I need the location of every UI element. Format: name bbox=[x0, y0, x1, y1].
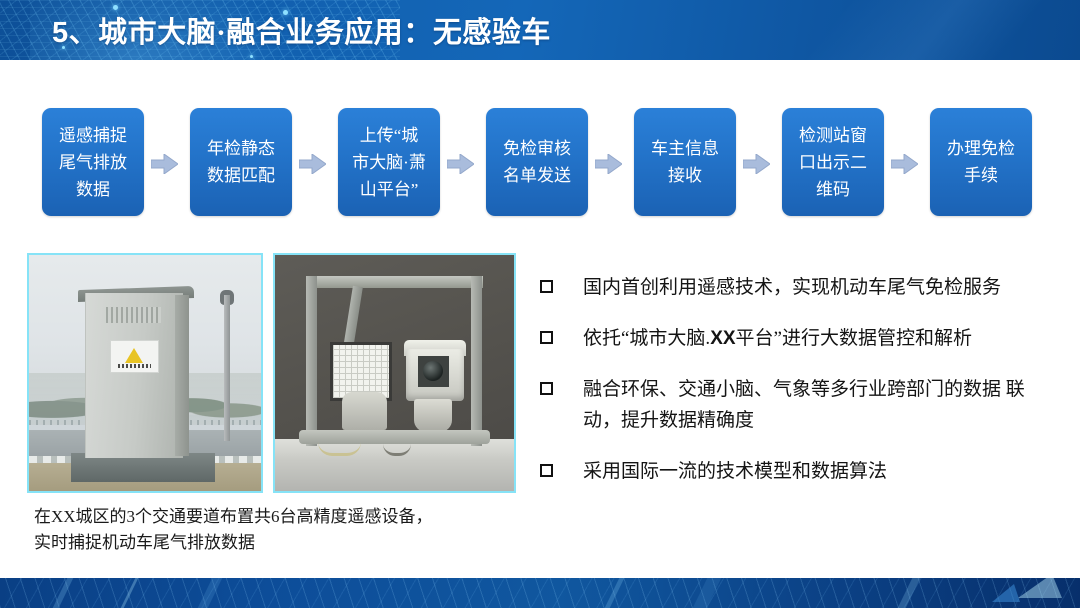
photo-gantry-camera bbox=[273, 253, 516, 493]
slide: 5、城市大脑·融合业务应用：无感验车 遥感捕捉尾气排放数据 年检静态数据匹配 上… bbox=[0, 0, 1080, 608]
photo-camera-mount bbox=[414, 399, 452, 432]
list-item-text: 国内首创利用遥感技术，实现机动车尾气免检服务 bbox=[583, 272, 1001, 303]
flow-step-6-label: 检测站窗口出示二维码 bbox=[799, 122, 867, 203]
flow-step-3[interactable]: 上传“城市大脑·萧山平台” bbox=[338, 108, 440, 216]
square-bullet-icon bbox=[540, 382, 553, 395]
photo-caption: 在XX城区的3个交通要道布置共6台高精度遥感设备， 实时捕捉机动车尾气排放数据 bbox=[34, 504, 514, 556]
photo-streetlight-pole bbox=[224, 295, 230, 441]
flow-step-2[interactable]: 年检静态数据匹配 bbox=[190, 108, 292, 216]
slide-footer bbox=[0, 578, 1080, 608]
list-item-text-pre: 采用国际一流的技术模型和数据算法 bbox=[583, 461, 887, 482]
flow-step-line: 接收 bbox=[651, 162, 719, 189]
list-item[interactable]: 采用国际一流的技术模型和数据算法 bbox=[540, 456, 1060, 487]
flow-step-line: 车主信息 bbox=[651, 135, 719, 162]
flow-step-line: 上传“城 bbox=[352, 122, 426, 149]
flow-step-line: 免检审核 bbox=[503, 135, 571, 162]
flow-step-line: 办理免检 bbox=[947, 135, 1015, 162]
flow-step-line: 检测站窗 bbox=[799, 122, 867, 149]
photo-frame-top bbox=[306, 276, 483, 288]
page-title-remainder: 车 bbox=[521, 17, 551, 49]
flow-step-7[interactable]: 办理免检手续 bbox=[930, 108, 1032, 216]
flow-step-5-label: 车主信息接收 bbox=[651, 135, 719, 189]
flow-step-line: 名单发送 bbox=[503, 162, 571, 189]
photo-cable bbox=[318, 434, 361, 456]
flow-step-4-label: 免检审核名单发送 bbox=[503, 135, 571, 189]
flow-step-6[interactable]: 检测站窗口出示二维码 bbox=[782, 108, 884, 216]
photo-frame-right bbox=[471, 276, 482, 446]
flow-step-line: 数据 bbox=[59, 176, 127, 203]
square-bullet-icon bbox=[540, 331, 553, 344]
list-item-text-pre: 融合环保、交通小脑、气象等多行业跨部门的数据 联动，提升数据精确度 bbox=[583, 379, 1025, 431]
list-item-text-pre: 依托“城市大脑. bbox=[583, 328, 710, 349]
flow-step-line: 维码 bbox=[799, 176, 867, 203]
flow-arrow-2-icon bbox=[299, 154, 326, 174]
flow-step-line: 市大脑·萧 bbox=[352, 149, 426, 176]
process-flow: 遥感捕捉尾气排放数据 年检静态数据匹配 上传“城市大脑·萧山平台” 免检审核名单… bbox=[0, 108, 1080, 218]
warning-label-text bbox=[118, 364, 151, 368]
flow-arrow-5-icon bbox=[743, 154, 770, 174]
footer-accent-triangle bbox=[992, 584, 1020, 602]
flow-step-5[interactable]: 车主信息接收 bbox=[634, 108, 736, 216]
list-item[interactable]: 国内首创利用遥感技术，实现机动车尾气免检服务 bbox=[540, 272, 1060, 303]
list-item-text-bold: XX bbox=[710, 328, 735, 349]
flow-arrow-3-icon bbox=[447, 154, 474, 174]
square-bullet-icon bbox=[540, 280, 553, 293]
flow-step-line: 遥感捕捉 bbox=[59, 122, 127, 149]
flow-step-line: 山平台” bbox=[352, 176, 426, 203]
list-item[interactable]: 融合环保、交通小脑、气象等多行业跨部门的数据 联动，提升数据精确度 bbox=[540, 374, 1060, 436]
photo-caption-line-2: 实时捕捉机动车尾气排放数据 bbox=[34, 530, 514, 556]
photo-cabinet-vents bbox=[106, 307, 162, 324]
warning-label-icon bbox=[110, 340, 158, 373]
header-dot bbox=[250, 55, 253, 58]
square-bullet-icon bbox=[540, 464, 553, 477]
flow-arrow-6-icon bbox=[891, 154, 918, 174]
list-item-text-pre: 国内首创利用遥感技术，实现机动车尾气免检服务 bbox=[583, 277, 1001, 298]
flow-step-7-label: 办理免检手续 bbox=[947, 135, 1015, 189]
footer-accent-triangle bbox=[1018, 578, 1062, 598]
list-item-text: 采用国际一流的技术模型和数据算法 bbox=[583, 456, 887, 487]
flow-step-line: 口出示二 bbox=[799, 149, 867, 176]
photo-caption-line-1: 在XX城区的3个交通要道布置共6台高精度遥感设备， bbox=[34, 504, 514, 530]
flow-step-1[interactable]: 遥感捕捉尾气排放数据 bbox=[42, 108, 144, 216]
flow-step-line: 年检静态 bbox=[207, 135, 275, 162]
list-item-text: 融合环保、交通小脑、气象等多行业跨部门的数据 联动，提升数据精确度 bbox=[583, 374, 1060, 436]
flow-step-line: 手续 bbox=[947, 162, 1015, 189]
flow-arrow-4-icon bbox=[595, 154, 622, 174]
flow-step-line: 数据匹配 bbox=[207, 162, 275, 189]
list-item-text: 依托“城市大脑.XX平台”进行大数据管控和解析 bbox=[583, 323, 972, 354]
flow-step-2-label: 年检静态数据匹配 bbox=[207, 135, 275, 189]
photo-frame-left bbox=[306, 276, 317, 446]
page-title-number: 5、 bbox=[52, 17, 98, 49]
photo-roadside-cabinet bbox=[27, 253, 263, 493]
flow-step-3-label: 上传“城市大脑·萧山平台” bbox=[352, 122, 426, 203]
photo-cabinet-side bbox=[175, 295, 189, 455]
page-title: 5、城市大脑·融合业务应用：无感验车 bbox=[52, 12, 752, 54]
list-item-text-post: 平台”进行大数据管控和解析 bbox=[736, 328, 972, 349]
flow-step-line: 尾气排放 bbox=[59, 149, 127, 176]
warning-triangle-icon bbox=[125, 348, 143, 363]
flow-arrow-1-icon bbox=[151, 154, 178, 174]
page-title-text: 城市大脑·融合业务应用：无感验 bbox=[98, 17, 521, 49]
flow-step-4[interactable]: 免检审核名单发送 bbox=[486, 108, 588, 216]
photo-led-mount bbox=[342, 392, 387, 430]
highlights-list: 国内首创利用遥感技术，实现机动车尾气免检服务 依托“城市大脑.XX平台”进行大数… bbox=[540, 272, 1060, 507]
header-dot bbox=[113, 5, 118, 10]
flow-step-1-label: 遥感捕捉尾气排放数据 bbox=[59, 122, 127, 203]
list-item[interactable]: 依托“城市大脑.XX平台”进行大数据管控和解析 bbox=[540, 323, 1060, 354]
